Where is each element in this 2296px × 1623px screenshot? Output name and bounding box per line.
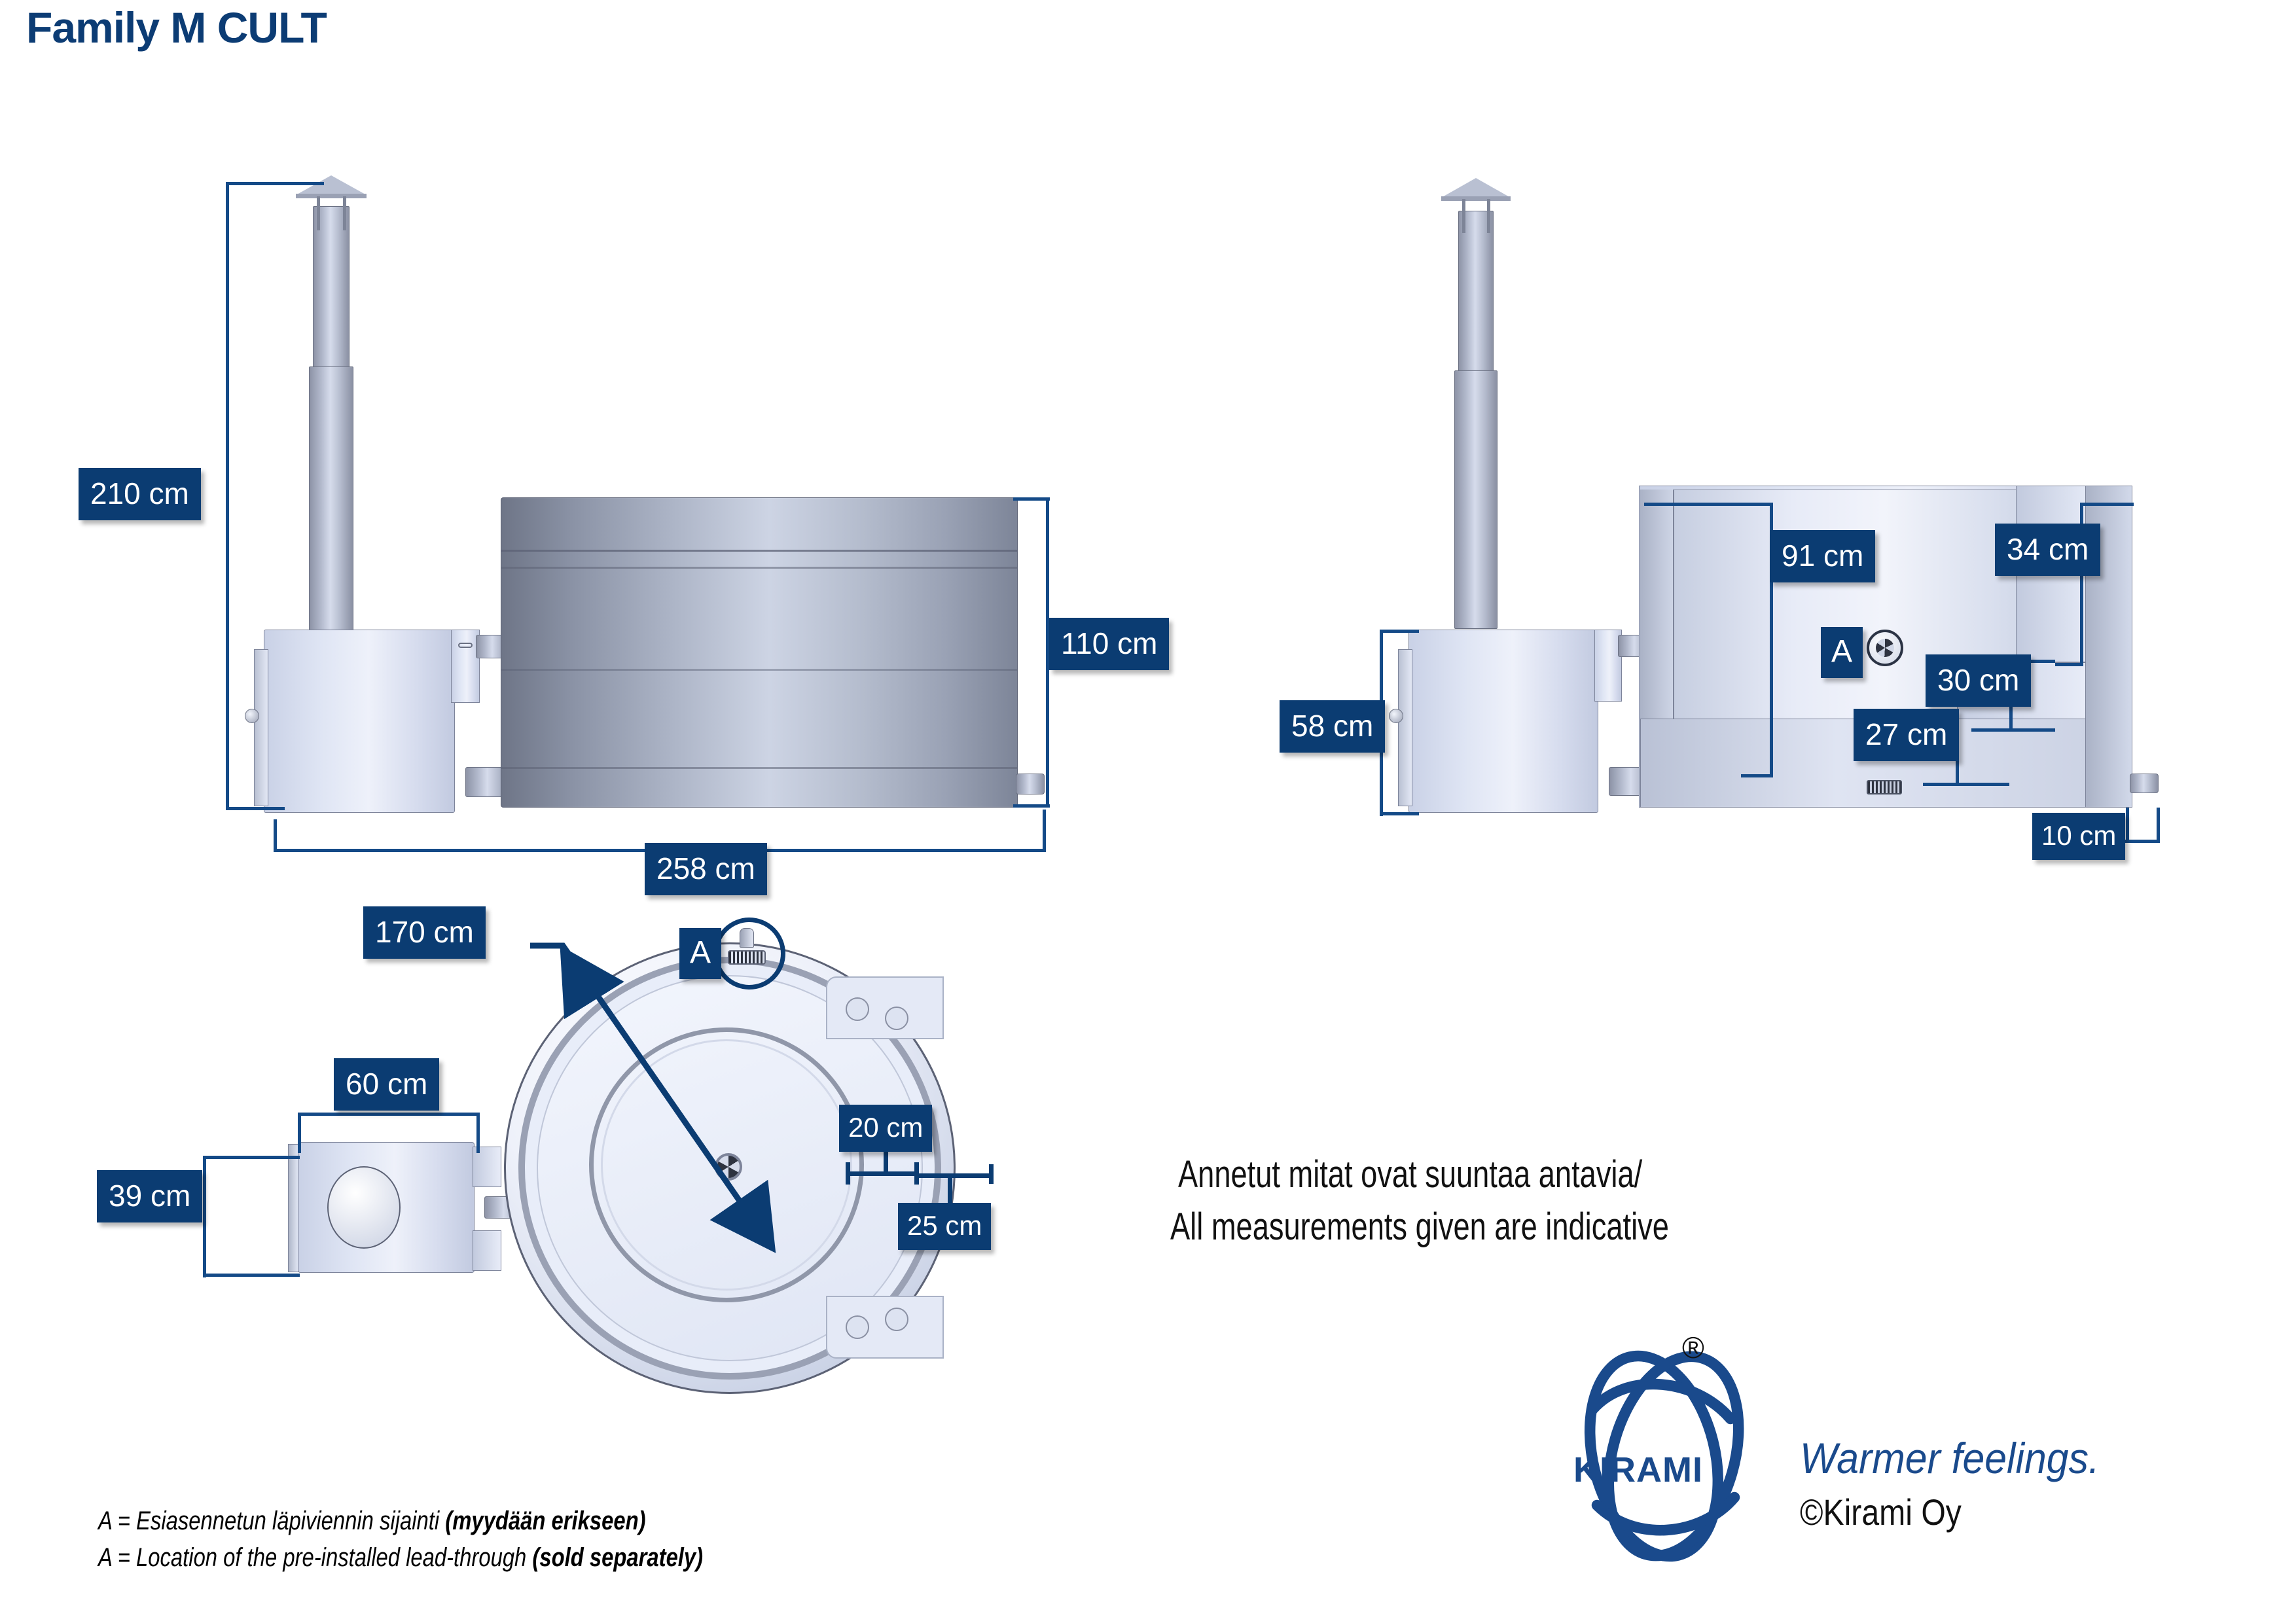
plan-bolt-hole-1 <box>846 997 869 1021</box>
dim-110-tick-top <box>1013 497 1050 501</box>
dim-91-tick-top <box>1644 503 1772 506</box>
dim-total-height-badge: 210 cm <box>79 468 201 520</box>
section-drain <box>1867 780 1902 794</box>
footnote-fi-bold: (myydään erikseen) <box>445 1507 645 1535</box>
section-stove-body <box>1408 630 1598 813</box>
tub-band-4 <box>501 767 1017 769</box>
section-cap-strut-right <box>1487 199 1490 233</box>
dim-step-width-badge: 20 cm <box>839 1105 932 1152</box>
disclaimer-line-2: All measurements given are indicative <box>1170 1203 1669 1251</box>
plan-notch-top <box>826 976 944 1039</box>
plan-lead-through-annotation-ring <box>713 918 785 990</box>
brand-logo: KIRAMI ® Warmer feelings. ©Kirami Oy <box>1558 1322 2265 1584</box>
dim-34-tick-bottom <box>2055 663 2083 666</box>
dim-60-tick-right <box>476 1113 480 1153</box>
page-title: Family M CULT <box>26 3 327 52</box>
dim-258-tick-left <box>274 819 277 851</box>
tub-band-2 <box>501 567 1017 569</box>
tub-right-outlet <box>1016 774 1045 794</box>
plan-bolt-hole-2 <box>885 1007 908 1030</box>
dim-58-tick-bottom <box>1380 812 1419 815</box>
section-chimney-cap-plate <box>1441 196 1511 201</box>
dim-110-tick-bottom <box>1013 804 1050 808</box>
dim-seat-height-badge: 27 cm <box>1854 709 1959 761</box>
dim-210-tick-bottom <box>226 807 285 810</box>
footnote-fi: A = Esiasennetun läpiviennin sijainti (m… <box>98 1502 646 1540</box>
section-stove-handle <box>1389 709 1403 723</box>
dim-27-tick-bottom <box>1923 783 2009 786</box>
section-right-outlet <box>2130 774 2159 793</box>
section-chimney-rain-cap <box>1441 178 1511 198</box>
dim-60-tick-left <box>298 1113 301 1153</box>
disclaimer-line-1: Annetut mitat ovat suuntaa antavia/ <box>1178 1150 1642 1199</box>
dim-39-tick-bottom <box>203 1274 300 1277</box>
chimney-rain-cap <box>296 175 367 195</box>
dim-20-tick-left <box>846 1162 850 1185</box>
dim-25-line <box>919 1173 992 1178</box>
dim-inner-depth-badge: 91 cm <box>1770 530 1875 582</box>
dim-stove-width-badge: 60 cm <box>334 1058 439 1111</box>
chimney-cap-strut-right <box>343 196 346 230</box>
dim-tub-diameter-badge: 170 cm <box>363 906 486 959</box>
dim-ledge-width-badge: 25 cm <box>898 1203 991 1250</box>
dim-58-tick-top <box>1380 630 1419 633</box>
footnote-fi-text: A = Esiasennetun läpiviennin sijainti <box>98 1507 445 1535</box>
drawing-canvas: Family M CULT 210 cm <box>0 0 2296 1623</box>
kirami-wordmark: KIRAMI <box>1573 1450 1703 1490</box>
chimney-upper-pipe <box>313 206 350 370</box>
dim-34-tick-top <box>2080 503 2134 506</box>
footnote-en-text: A = Location of the pre-installed lead-t… <box>98 1543 532 1572</box>
stove-door-panel <box>254 649 268 806</box>
plan-bolt-hole-3 <box>846 1315 869 1339</box>
section-chimney-lower <box>1454 370 1498 629</box>
dim-total-length-badge: 258 cm <box>645 843 767 895</box>
dim-210-line <box>226 182 229 810</box>
chimney-lower-pipe <box>309 366 353 632</box>
dim-60-line <box>298 1113 480 1116</box>
registered-trademark-icon: ® <box>1682 1330 1704 1365</box>
section-stove-door <box>1398 649 1412 806</box>
tub-body <box>501 497 1018 808</box>
section-marker-A: A <box>1821 627 1863 678</box>
stove-door-handle <box>245 709 259 723</box>
dim-20-line <box>846 1171 919 1176</box>
chimney-cap-strut-left <box>317 196 320 230</box>
footnote-en: A = Location of the pre-installed lead-t… <box>98 1539 703 1577</box>
tub-band-1 <box>501 550 1017 552</box>
dim-10-tick-right <box>2157 808 2160 843</box>
footnote-en-bold: (sold separately) <box>532 1543 703 1572</box>
dim-stove-height-badge: 58 cm <box>1280 700 1385 753</box>
dim-rim-width-badge: 34 cm <box>1995 524 2100 576</box>
plan-marker-A: A <box>679 928 721 979</box>
section-chimney-upper <box>1458 211 1494 374</box>
stove-bracket-slot <box>458 643 473 648</box>
dim-10-tick-left <box>2126 808 2129 843</box>
section-cap-strut-left <box>1462 199 1465 233</box>
dim-25-leader <box>948 1173 952 1206</box>
dim-tub-height-badge: 110 cm <box>1049 618 1169 670</box>
dim-170-arrow <box>340 916 838 1414</box>
dim-30-tick-bottom <box>1971 728 2055 732</box>
dim-stove-depth-badge: 39 cm <box>97 1170 202 1222</box>
plan-notch-bottom <box>826 1296 944 1359</box>
plan-bolt-hole-4 <box>885 1308 908 1331</box>
dim-91-tick-bottom <box>1741 774 1772 777</box>
copyright-notice: ©Kirami Oy <box>1800 1491 1962 1533</box>
lead-through-inner <box>1876 639 1894 657</box>
dim-258-tick-right <box>1043 810 1046 850</box>
dim-20-tick-right <box>914 1162 919 1185</box>
stove-body <box>264 630 455 813</box>
tub-band-3 <box>501 669 1017 671</box>
dim-bench-width-badge: 30 cm <box>1926 654 2031 707</box>
dim-210-tick-top <box>226 182 324 185</box>
dim-39-line <box>203 1156 206 1277</box>
dim-39-tick-top <box>203 1156 300 1159</box>
dim-25-tick-right <box>989 1164 994 1184</box>
dim-ground-clearance-badge: 10 cm <box>2032 813 2125 860</box>
plan-stove-left-plate <box>288 1144 298 1272</box>
chimney-cap-plate <box>296 194 367 198</box>
brand-tagline: Warmer feelings. <box>1800 1433 2100 1483</box>
